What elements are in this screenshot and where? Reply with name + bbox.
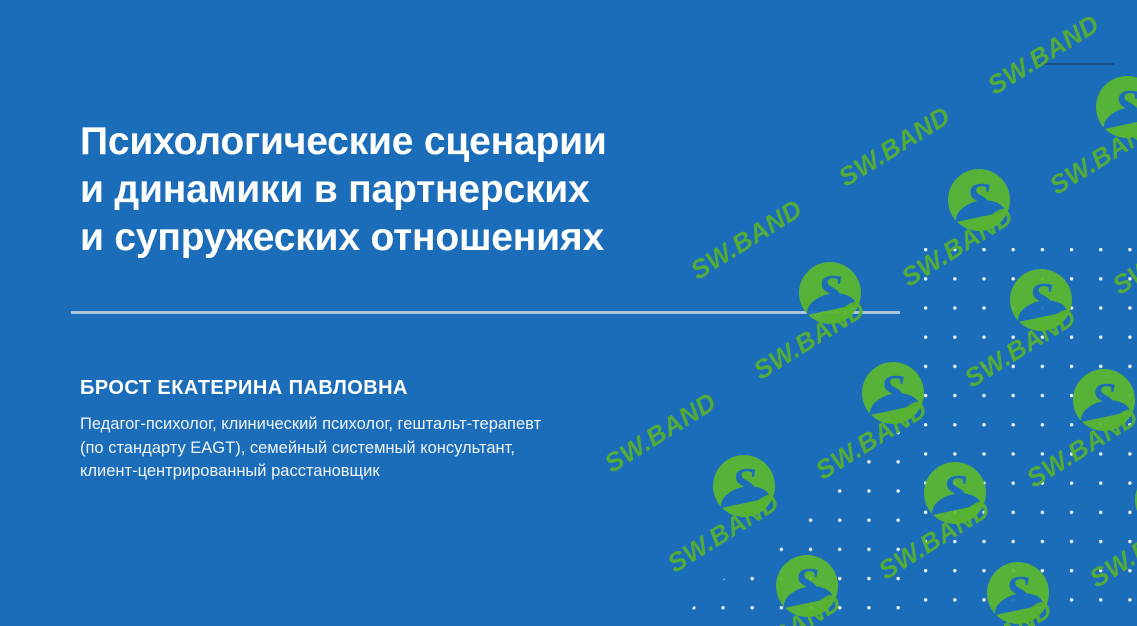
watermark-logo-letter: S [1096,76,1137,138]
watermark-logo-icon: S [1096,76,1137,138]
watermark-logo-letter: S [948,169,1010,231]
watermark-text: SW.BAND [1021,401,1137,494]
watermark-logo-icon: S [799,262,861,324]
watermark-text: SW.BAND [959,301,1082,394]
watermark-text: SW.BAND [810,394,933,487]
watermark-logo-icon: S [776,555,838,617]
presenter-name: БРОСТ ЕКАТЕРИНА ПАВЛОВНА [80,377,408,400]
divider [71,311,900,314]
watermark-logo-letter: S [924,462,986,524]
watermark-logo-letter: S [799,262,861,324]
watermark-logo-swoosh [992,589,1044,615]
watermark-logo-letter: S [862,362,924,424]
watermark-text: SW.BAND [935,594,1058,626]
presenter-description: Педагог-психолог, клинический психолог, … [80,413,740,484]
watermark-logo-swoosh [1101,103,1137,129]
watermark-logo-swoosh [1015,296,1067,322]
watermark-text: SW.BAND [662,486,785,579]
watermark-text: SW.BAND [1044,108,1137,201]
corner-rule-decoration [1035,63,1114,65]
watermark-text: SW.BAND [724,586,847,626]
watermark-logo-swoosh [718,482,770,508]
watermark-logo-icon: S [924,462,986,524]
watermark-logo-swoosh [953,196,1005,222]
watermark-logo-icon: S [1010,269,1072,331]
watermark-logo-swoosh [929,489,981,515]
watermark-text: SW.BAND [833,101,956,194]
watermark-logo-letter: S [987,562,1049,624]
watermark-text: SW.BAND [873,494,996,587]
watermark-text: SW.BAND [1084,501,1137,594]
watermark-logo-swoosh [867,389,919,415]
watermark-logo-letter: S [1010,269,1072,331]
watermark-logo-letter: S [776,555,838,617]
watermark-logo-icon: S [1073,369,1135,431]
watermark-logo-swoosh [781,582,833,608]
watermark-logo-icon: S [987,562,1049,624]
watermark-logo-swoosh [1078,396,1130,422]
watermark-logo-icon: S [948,169,1010,231]
watermark-text: SW.BAND [982,8,1105,101]
watermark-logo-letter: S [1073,369,1135,431]
decorative-dot-grid [905,236,1137,626]
watermark-text: SW.BAND [1130,0,1137,8]
watermark-text: SW.BAND [1107,208,1137,301]
watermark-text: SW.BAND [896,201,1019,294]
page-title: Психологические сценарии и динамики в па… [80,118,740,262]
watermark-logo-icon: S [862,362,924,424]
presentation-slide: Психологические сценарии и динамики в па… [0,0,1137,626]
watermark-text: SW.BAND [748,294,871,387]
